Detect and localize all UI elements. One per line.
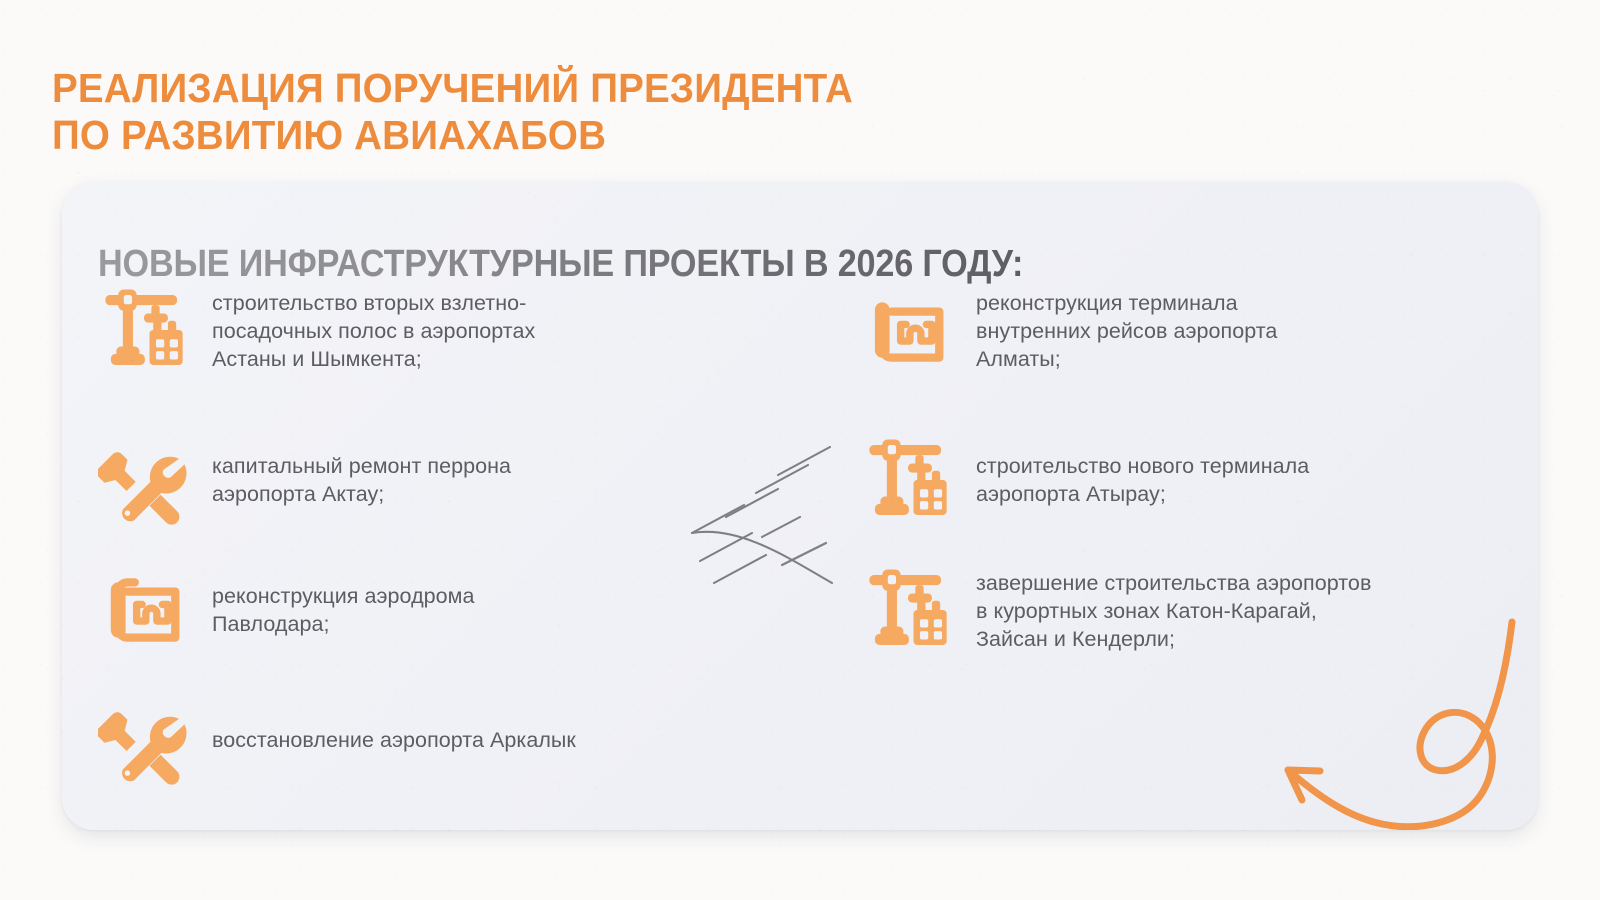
blueprint-icon [862, 284, 954, 376]
list-item: строительство нового терминала аэропорта… [862, 434, 1472, 526]
page-title: РЕАЛИЗАЦИЯ ПОРУЧЕНИЙ ПРЕЗИДЕНТА ПО РАЗВИ… [52, 65, 1180, 159]
list-item-text: строительство вторых взлетно- посадочных… [212, 284, 535, 373]
wrench-screwdriver-icon [98, 694, 190, 786]
blueprint-icon [98, 564, 190, 656]
curly-arrow-decoration [1244, 610, 1538, 830]
list-item: реконструкция терминала внутренних рейсо… [862, 284, 1472, 376]
crane-building-icon [862, 434, 954, 526]
crane-building-icon [98, 284, 190, 376]
list-item-text: капитальный ремонт перрона аэропорта Акт… [212, 434, 511, 508]
crane-building-icon [862, 564, 954, 656]
list-item-text: восстановление аэропорта Аркалык [212, 694, 576, 754]
wrench-screwdriver-icon [98, 434, 190, 526]
list-item-text: реконструкция терминала внутренних рейсо… [976, 284, 1277, 373]
list-item: реконструкция аэродрома Павлодара; [98, 564, 708, 656]
list-item-text: строительство нового терминала аэропорта… [976, 434, 1309, 508]
card-heading: НОВЫЕ ИНФРАСТРУКТУРНЫЕ ПРОЕКТЫ В 2026 ГО… [98, 242, 1023, 286]
infrastructure-projects-card: НОВЫЕ ИНФРАСТРУКТУРНЫЕ ПРОЕКТЫ В 2026 ГО… [62, 182, 1538, 830]
list-item: капитальный ремонт перрона аэропорта Акт… [98, 434, 708, 526]
list-item: восстановление аэропорта Аркалык [98, 694, 708, 786]
list-item: строительство вторых взлетно- посадочных… [98, 284, 708, 376]
list-item-text: реконструкция аэродрома Павлодара; [212, 564, 475, 638]
